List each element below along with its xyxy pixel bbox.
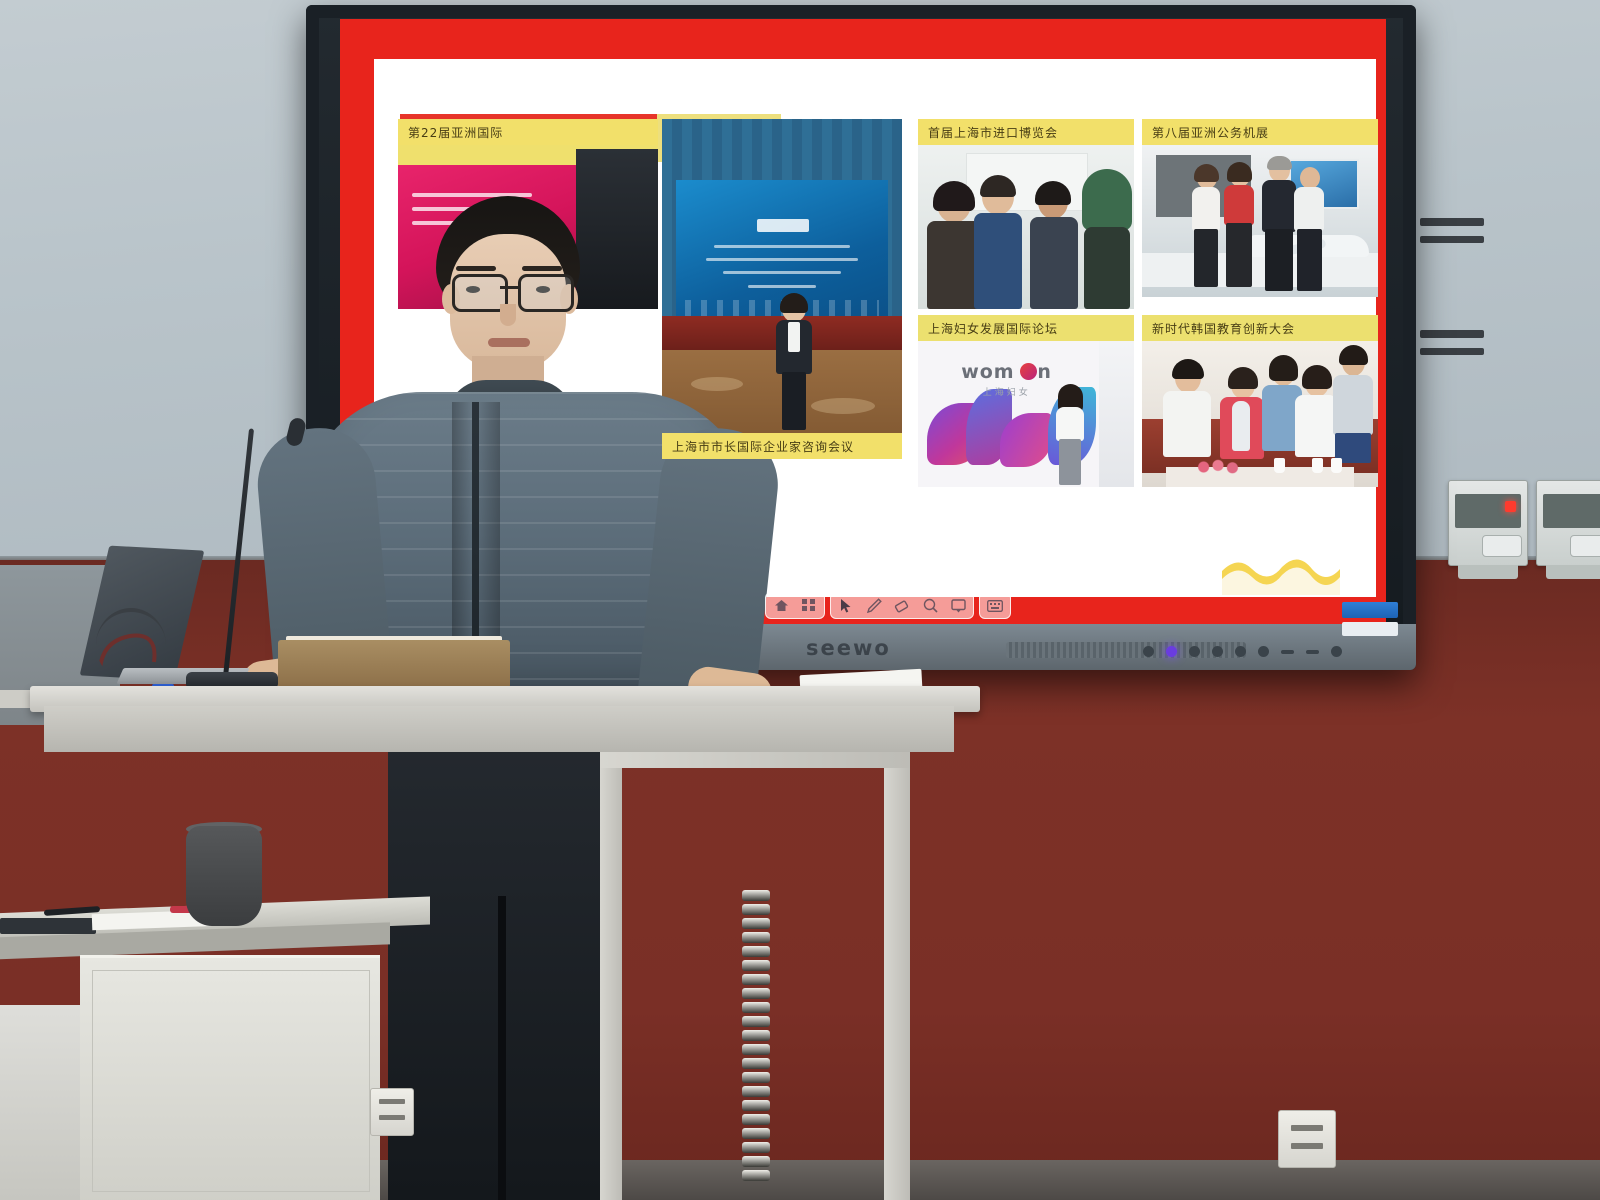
- photo-caption-text: 第八届亚洲公务机展: [1142, 124, 1269, 141]
- bezel-button[interactable]: [1212, 646, 1223, 657]
- storage-cabinet[interactable]: [80, 955, 380, 1200]
- presenter-eyebrow: [522, 266, 562, 271]
- keyboard-icon[interactable]: [982, 595, 1008, 616]
- podium-leg-left: [600, 752, 622, 1200]
- wall-control-panel-1[interactable]: [1448, 480, 1528, 566]
- wall-outlet-right[interactable]: [1278, 1110, 1336, 1168]
- toolbar-group-system[interactable]: [765, 592, 825, 619]
- photo-caption: 第八届亚洲公务机展: [1142, 119, 1378, 145]
- black-book[interactable]: [0, 918, 96, 934]
- photo-caption: 第22届亚洲国际: [398, 119, 658, 145]
- photo-caption-text: 上海市市长国际企业家咨询会议: [662, 438, 854, 455]
- wall-outlet-left[interactable]: [370, 1088, 414, 1136]
- home-icon[interactable]: [768, 595, 794, 616]
- apps-grid-icon[interactable]: [796, 595, 822, 616]
- bezel-button[interactable]: [1235, 646, 1246, 657]
- eyeglasses-icon: [518, 274, 574, 312]
- display-sticker-blue: [1342, 602, 1398, 618]
- bezel-port: [1306, 650, 1319, 654]
- ceiling-mount-arm-upper2: [1420, 236, 1484, 243]
- dark-cup[interactable]: [186, 826, 262, 926]
- photo-caption: 上海市市长国际企业家咨询会议: [662, 433, 902, 459]
- cabinet-left-side: [0, 1005, 86, 1200]
- notebook[interactable]: [278, 640, 510, 688]
- outlet-slot: [379, 1099, 405, 1104]
- display-sticker-white: [1342, 622, 1398, 636]
- display-button-row[interactable]: [1143, 646, 1342, 657]
- photo-caption: 上海妇女发展国际论坛: [918, 315, 1134, 341]
- presenter-nose: [500, 304, 516, 326]
- panel-button[interactable]: [1482, 535, 1522, 557]
- ceiling-mount-arm-lower2: [1420, 348, 1484, 355]
- bezel-button[interactable]: [1189, 646, 1200, 657]
- toolbar-group-input[interactable]: [979, 592, 1011, 619]
- photo-caption-text: 第22届亚洲国际: [398, 124, 503, 141]
- bezel-port: [1281, 650, 1294, 654]
- cursor-icon[interactable]: [833, 595, 859, 616]
- photo-caption-text: 上海妇女发展国际论坛: [918, 320, 1058, 337]
- photo-caption-text: 新时代韩国教育创新大会: [1142, 320, 1295, 337]
- ceiling-mount-arm-lower: [1420, 330, 1484, 338]
- status-led-icon: [1505, 501, 1516, 512]
- panel-base: [1458, 565, 1517, 579]
- outlet-slot: [1291, 1143, 1323, 1149]
- panel-base: [1546, 565, 1600, 579]
- outlet-slot: [1291, 1125, 1323, 1131]
- screenshot-icon[interactable]: [945, 595, 971, 616]
- photo-caption: 首届上海市进口博览会: [918, 119, 1134, 145]
- pen-icon[interactable]: [861, 595, 887, 616]
- lecture-room-photo: 4、亮点总结 走向国际 第22届亚洲国际: [0, 0, 1600, 1200]
- cable-conduit: [742, 890, 770, 1190]
- photo-caption: 新时代韩国教育创新大会: [1142, 315, 1378, 341]
- cabinet-door[interactable]: [92, 970, 370, 1192]
- eyeglasses-bridge: [500, 286, 518, 289]
- wall-control-panel-2[interactable]: [1536, 480, 1600, 566]
- panel-button[interactable]: [1570, 535, 1600, 557]
- presenter-mouth: [488, 338, 530, 347]
- eraser-icon[interactable]: [889, 595, 915, 616]
- ceiling-mount-arm-upper: [1420, 218, 1484, 226]
- magnifier-icon[interactable]: [917, 595, 943, 616]
- podium-leg-right: [884, 752, 910, 1200]
- bezel-button[interactable]: [1331, 646, 1342, 657]
- podium-front-panel: [44, 706, 954, 752]
- podium-crossbar: [600, 752, 910, 768]
- toolbar-group-tools[interactable]: [830, 592, 974, 619]
- whiteboard-toolbar[interactable]: [765, 592, 1011, 619]
- cable: [96, 608, 166, 682]
- bezel-button[interactable]: [1258, 646, 1269, 657]
- bezel-button[interactable]: [1143, 646, 1154, 657]
- presenter-eyebrow: [456, 266, 496, 271]
- photo-caption-text: 首届上海市进口博览会: [918, 124, 1058, 141]
- bezel-power-button[interactable]: [1166, 646, 1177, 657]
- panel-screen: [1543, 494, 1600, 528]
- presenter-leg-split: [498, 896, 506, 1200]
- outlet-slot: [379, 1115, 405, 1120]
- ribbon-decoration-icon: [1222, 553, 1340, 595]
